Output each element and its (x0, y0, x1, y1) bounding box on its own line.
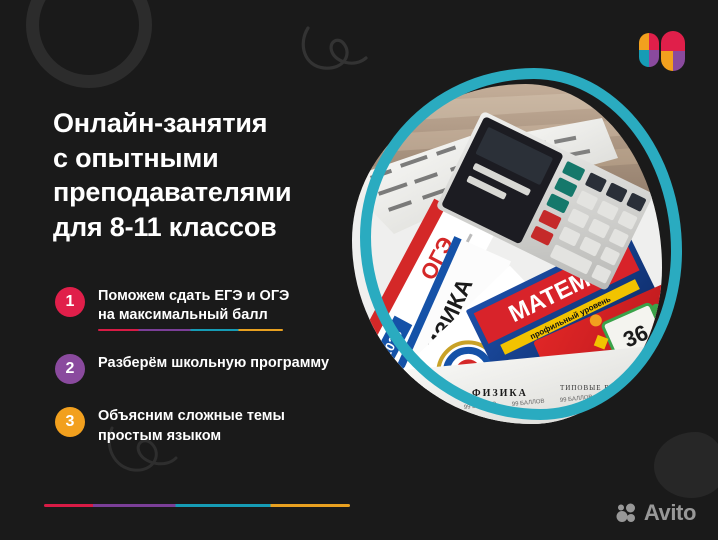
brand-logo-icon (639, 31, 685, 71)
benefit-number-badge: 3 (55, 407, 85, 437)
benefit-text: Объясним сложные темы простым языком (98, 407, 285, 446)
list-item: 1 Поможем сдать ЕГЭ и ОГЭ на максимальны… (55, 286, 355, 331)
avito-dots-icon (616, 503, 638, 523)
hero-photo: 2023 ОГЭ ФИЗИКА Е. Е. Камзеева (352, 68, 682, 428)
page-title: Онлайн-занятия с опытными преподавателям… (53, 106, 353, 244)
benefit-text: Разберём школьную программу (98, 354, 329, 373)
ad-banner: 2023 ОГЭ ФИЗИКА Е. Е. Камзеева (0, 0, 718, 540)
accent-gradient-bar (44, 504, 350, 508)
benefit-number-badge: 2 (55, 354, 85, 384)
avito-wordmark: Avito (644, 500, 696, 526)
decor-ring-circle (26, 0, 152, 88)
list-item: 2 Разберём школьную программу (55, 353, 355, 384)
benefit-number-badge: 1 (55, 287, 85, 317)
avito-watermark: Avito (616, 500, 696, 526)
list-item: 3 Объясним сложные темы простым языком (55, 406, 355, 446)
benefit-underline-accent (98, 329, 283, 332)
decor-swirl-top-icon (300, 24, 370, 74)
decor-blob-bottom-right (654, 432, 718, 498)
benefits-list: 1 Поможем сдать ЕГЭ и ОГЭ на максимальны… (55, 286, 355, 446)
benefit-text: Поможем сдать ЕГЭ и ОГЭ на максимальный … (98, 287, 289, 326)
